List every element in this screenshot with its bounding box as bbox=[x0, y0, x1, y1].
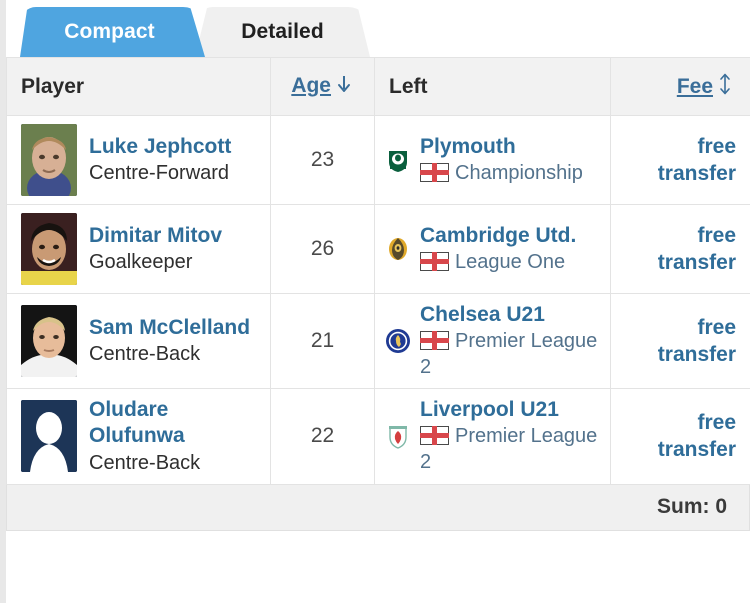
player-name-link[interactable]: Luke Jephcott bbox=[89, 134, 231, 160]
fee-cell: free transfer bbox=[611, 116, 750, 205]
column-header-fee[interactable]: Fee bbox=[611, 58, 750, 116]
england-flag-icon bbox=[420, 426, 449, 445]
left-club-cell: Chelsea U21 Premier League 2 bbox=[375, 294, 611, 389]
table-row[interactable]: Luke Jephcott Centre-Forward 23 bbox=[7, 116, 750, 205]
club-name-link[interactable]: Cambridge Utd. bbox=[420, 223, 576, 249]
player-age: 22 bbox=[271, 388, 375, 484]
table-body: Luke Jephcott Centre-Forward 23 bbox=[7, 116, 750, 485]
player-age: 21 bbox=[271, 294, 375, 389]
chelsea-crest-icon bbox=[385, 328, 411, 354]
tab-detailed[interactable]: Detailed bbox=[195, 7, 370, 57]
player-cell: Luke Jephcott Centre-Forward bbox=[7, 116, 271, 205]
fee-cell: free transfer bbox=[611, 294, 750, 389]
tab-detailed-label: Detailed bbox=[241, 20, 324, 44]
club-name-link[interactable]: Plymouth bbox=[420, 134, 583, 160]
league-line: Premier League 2 bbox=[420, 425, 597, 473]
fee-cell: free transfer bbox=[611, 205, 750, 294]
player-age: 26 bbox=[271, 205, 375, 294]
england-flag-icon bbox=[420, 252, 449, 271]
player-name-link[interactable]: Dimitar Mitov bbox=[89, 223, 222, 249]
sort-descending-arrow-icon[interactable] bbox=[336, 75, 352, 100]
plymouth-argyle-crest-icon bbox=[385, 147, 411, 173]
sort-both-arrow-icon[interactable] bbox=[718, 73, 732, 101]
player-position: Centre-Forward bbox=[89, 162, 229, 184]
player-placeholder-silhouette-icon bbox=[21, 400, 77, 472]
column-header-age[interactable]: Age bbox=[271, 58, 375, 116]
column-header-player-label: Player bbox=[21, 75, 84, 98]
sum-label: Sum: 0 bbox=[657, 495, 727, 519]
fee-value[interactable]: free transfer bbox=[658, 135, 736, 185]
fee-value[interactable]: free transfer bbox=[658, 411, 736, 461]
table-row[interactable]: Sam McClelland Centre-Back 21 bbox=[7, 294, 750, 389]
england-flag-icon bbox=[420, 331, 449, 350]
left-club-cell: Plymouth Championship bbox=[375, 116, 611, 205]
player-name-link[interactable]: Oludare Olufunwa bbox=[89, 397, 260, 450]
player-position: Centre-Back bbox=[89, 452, 200, 474]
player-position: Goalkeeper bbox=[89, 251, 192, 273]
player-position: Centre-Back bbox=[89, 343, 200, 365]
player-photo-sam-mcclelland bbox=[21, 305, 77, 377]
league-line: Premier League 2 bbox=[420, 330, 597, 378]
table-row[interactable]: Dimitar Mitov Goalkeeper 26 bbox=[7, 205, 750, 294]
liverpool-crest-icon bbox=[385, 423, 411, 449]
tab-compact[interactable]: Compact bbox=[20, 7, 205, 57]
player-photo-luke-jephcott bbox=[21, 124, 77, 196]
column-header-left: Left bbox=[375, 58, 611, 116]
transfers-table-page: Compact Detailed Player Age Left Fee bbox=[0, 0, 750, 603]
table-header-row: Player Age Left Fee bbox=[7, 58, 750, 116]
england-flag-icon bbox=[420, 163, 449, 182]
league-line: League One bbox=[420, 251, 565, 273]
left-club-cell: Liverpool U21 Premier League 2 bbox=[375, 388, 611, 484]
league-name[interactable]: League One bbox=[455, 251, 565, 273]
fee-value[interactable]: free transfer bbox=[658, 224, 736, 274]
left-club-cell: Cambridge Utd. League One bbox=[375, 205, 611, 294]
cambridge-united-crest-icon bbox=[385, 236, 411, 262]
departures-table: Player Age Left Fee bbox=[6, 57, 750, 485]
tab-compact-label: Compact bbox=[64, 20, 155, 44]
table-row[interactable]: Oludare Olufunwa Centre-Back 22 bbox=[7, 388, 750, 484]
league-name[interactable]: Championship bbox=[455, 162, 583, 184]
column-header-player: Player bbox=[7, 58, 271, 116]
sort-by-age-link[interactable]: Age bbox=[291, 74, 331, 97]
league-line: Championship bbox=[420, 162, 583, 184]
player-age: 23 bbox=[271, 116, 375, 205]
column-header-left-label: Left bbox=[389, 75, 428, 98]
player-photo-dimitar-mitov bbox=[21, 213, 77, 285]
player-cell: Dimitar Mitov Goalkeeper bbox=[7, 205, 271, 294]
club-name-link[interactable]: Liverpool U21 bbox=[420, 397, 600, 423]
table-footer: Sum: 0 bbox=[6, 485, 750, 531]
view-mode-tabs: Compact Detailed bbox=[6, 0, 750, 57]
player-name-link[interactable]: Sam McClelland bbox=[89, 315, 250, 341]
fee-cell: free transfer bbox=[611, 388, 750, 484]
table-header: Player Age Left Fee bbox=[7, 58, 750, 116]
player-cell: Sam McClelland Centre-Back bbox=[7, 294, 271, 389]
player-cell: Oludare Olufunwa Centre-Back bbox=[7, 388, 271, 484]
club-name-link[interactable]: Chelsea U21 bbox=[420, 302, 600, 328]
sort-by-fee-link[interactable]: Fee bbox=[677, 75, 713, 98]
fee-value[interactable]: free transfer bbox=[658, 316, 736, 366]
